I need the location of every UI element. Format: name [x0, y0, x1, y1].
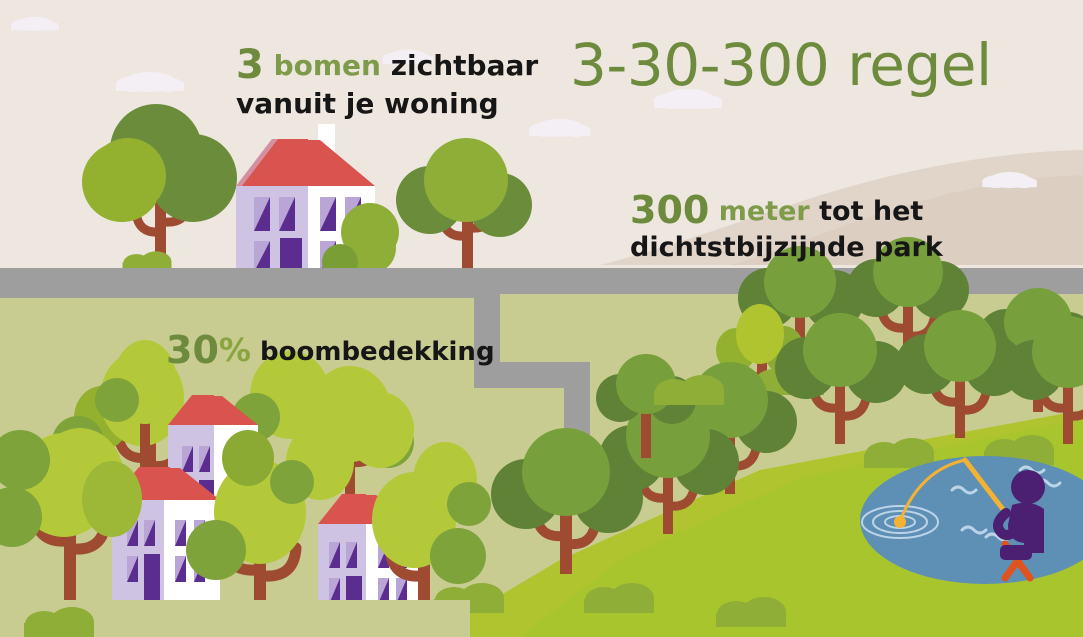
callout-thirty-rest: boombedekking: [260, 337, 495, 367]
callout-three-rest: zichtbaar: [391, 49, 538, 82]
callout-thirty-unit: %: [219, 331, 251, 369]
callout-threehundred-rest: tot het: [819, 196, 923, 227]
callout-three-trees: 3 bomen zichtbaar vanuit je woning: [236, 44, 538, 119]
callout-three-unit: bomen: [274, 49, 381, 82]
callout-threehundred-number: 300: [630, 188, 709, 232]
page-title: 3-30-300 regel: [570, 34, 992, 97]
fishing-float: [894, 516, 906, 528]
callout-threehundred-unit: meter: [719, 196, 810, 227]
callout-three-hundred-meter: 300 meter tot het dichtstbijzijnde park: [630, 190, 943, 262]
callout-thirty-number: 30: [166, 328, 219, 372]
callout-threehundred-line2: dichtstbijzijnde park: [630, 233, 943, 262]
infographic-canvas: 3-30-300 regel 3 bomen zichtbaar vanuit …: [0, 0, 1083, 637]
callout-three-number: 3: [236, 42, 264, 88]
house-door: [280, 238, 302, 272]
callout-thirty-percent: 30% boombedekking: [166, 330, 495, 371]
callout-three-line2: vanuit je woning: [236, 89, 538, 119]
